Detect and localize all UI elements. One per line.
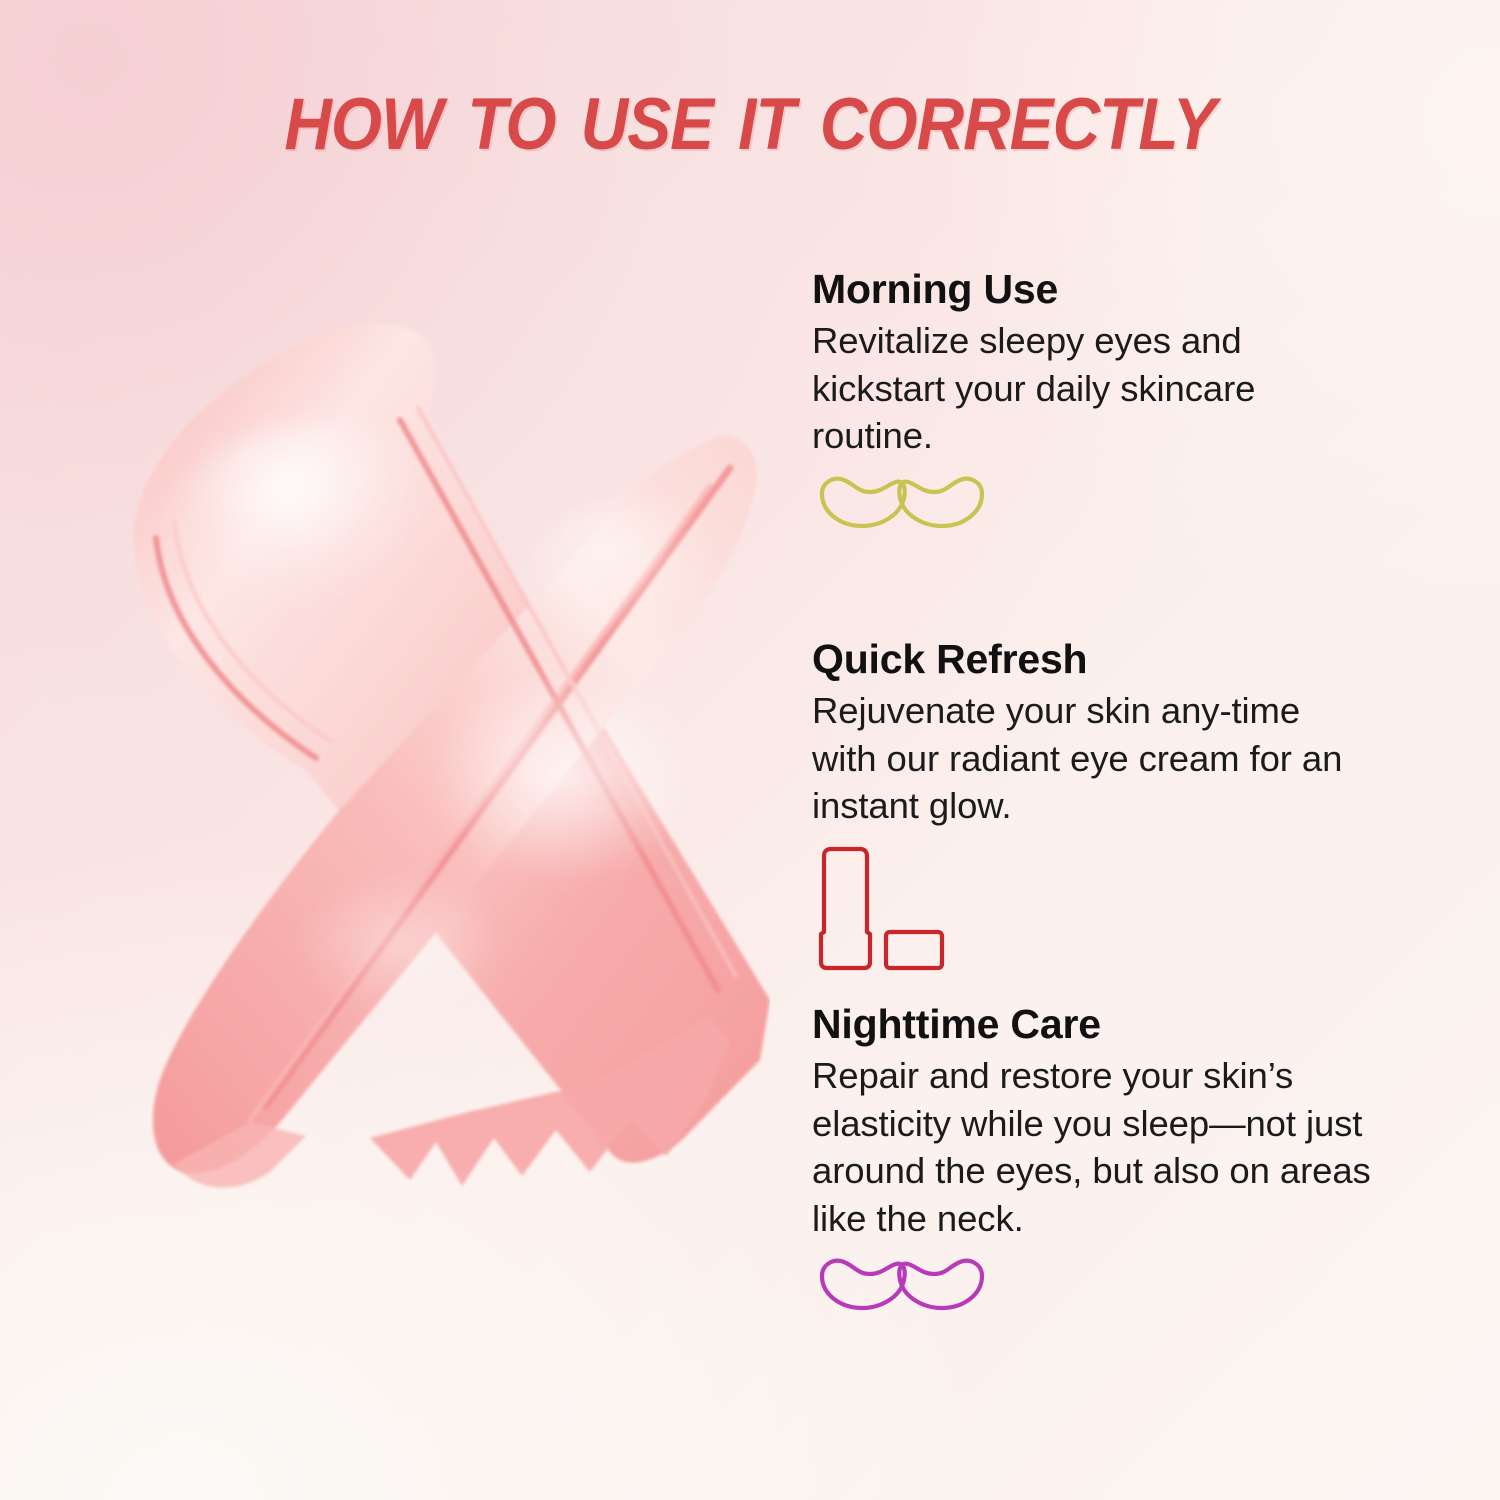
infographic-canvas: How to use it correctly (0, 0, 1500, 1500)
step-heading: Nighttime Care (812, 1003, 1390, 1046)
page-title: How to use it correctly (75, 62, 1425, 166)
step-description: Revitalize sleepy eyes and kickstart you… (812, 317, 1372, 459)
step-nighttime-care: Nighttime Care Repair and restore your s… (812, 1003, 1390, 1316)
step-description: Rejuvenate your skin any-time with our r… (812, 687, 1372, 829)
step-quick-refresh: Quick Refresh Rejuvenate your skin any-t… (812, 638, 1390, 979)
cream-tube-and-jar-icon (812, 844, 1390, 979)
eye-patch-pair-icon (812, 1254, 1390, 1316)
eye-patch-pair-icon (812, 472, 1390, 534)
step-morning-use: Morning Use Revitalize sleepy eyes and k… (812, 268, 1390, 534)
cream-swatch-image (70, 300, 770, 1200)
step-description: Repair and restore your skin’s elasticit… (812, 1052, 1372, 1242)
step-heading: Morning Use (812, 268, 1390, 311)
step-heading: Quick Refresh (812, 638, 1390, 681)
